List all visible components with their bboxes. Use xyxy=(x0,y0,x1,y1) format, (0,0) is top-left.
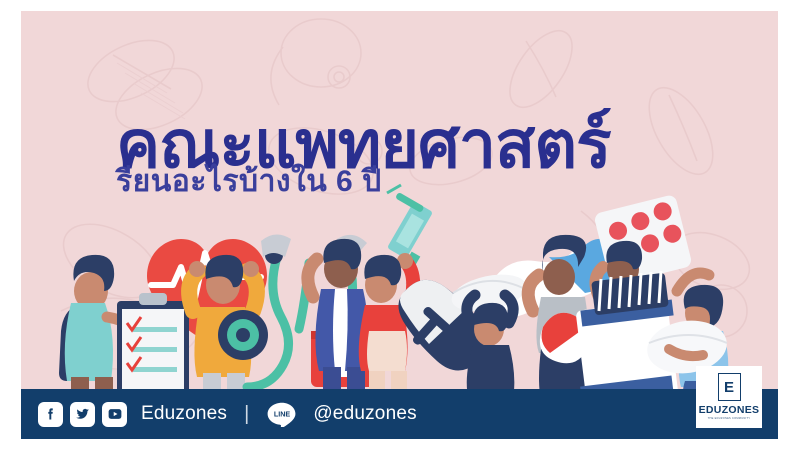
brand-name: Eduzones xyxy=(141,403,227,425)
line-icon[interactable]: LINE xyxy=(266,402,298,427)
eduzones-logo[interactable]: E EDUZONES THE EDUZONES COMMUNITY xyxy=(696,366,762,428)
promo-banner: คณะแพทยศาสตร์ รียนอะไรบ้างใน 6 ปี xyxy=(0,0,800,450)
clipboard xyxy=(117,293,189,399)
medical-illustration xyxy=(21,181,778,401)
stethoscope-chestpiece xyxy=(218,310,268,360)
youtube-icon[interactable] xyxy=(102,402,127,427)
facebook-icon[interactable] xyxy=(38,402,63,427)
logo-tagline: THE EDUZONES COMMUNITY xyxy=(708,418,751,421)
line-handle: @eduzones xyxy=(313,403,417,425)
twitter-icon[interactable] xyxy=(70,402,95,427)
logo-mark: E xyxy=(718,373,741,401)
footer-content: Eduzones | LINE @eduzones xyxy=(38,389,417,439)
footer-bar: Eduzones | LINE @eduzones xyxy=(21,389,778,439)
banner-canvas: คณะแพทยศาสตร์ รียนอะไรบ้างใน 6 ปี xyxy=(21,11,778,439)
footer-separator: | xyxy=(244,403,249,426)
svg-text:LINE: LINE xyxy=(274,409,291,418)
logo-wordmark: EDUZONES xyxy=(699,405,760,416)
